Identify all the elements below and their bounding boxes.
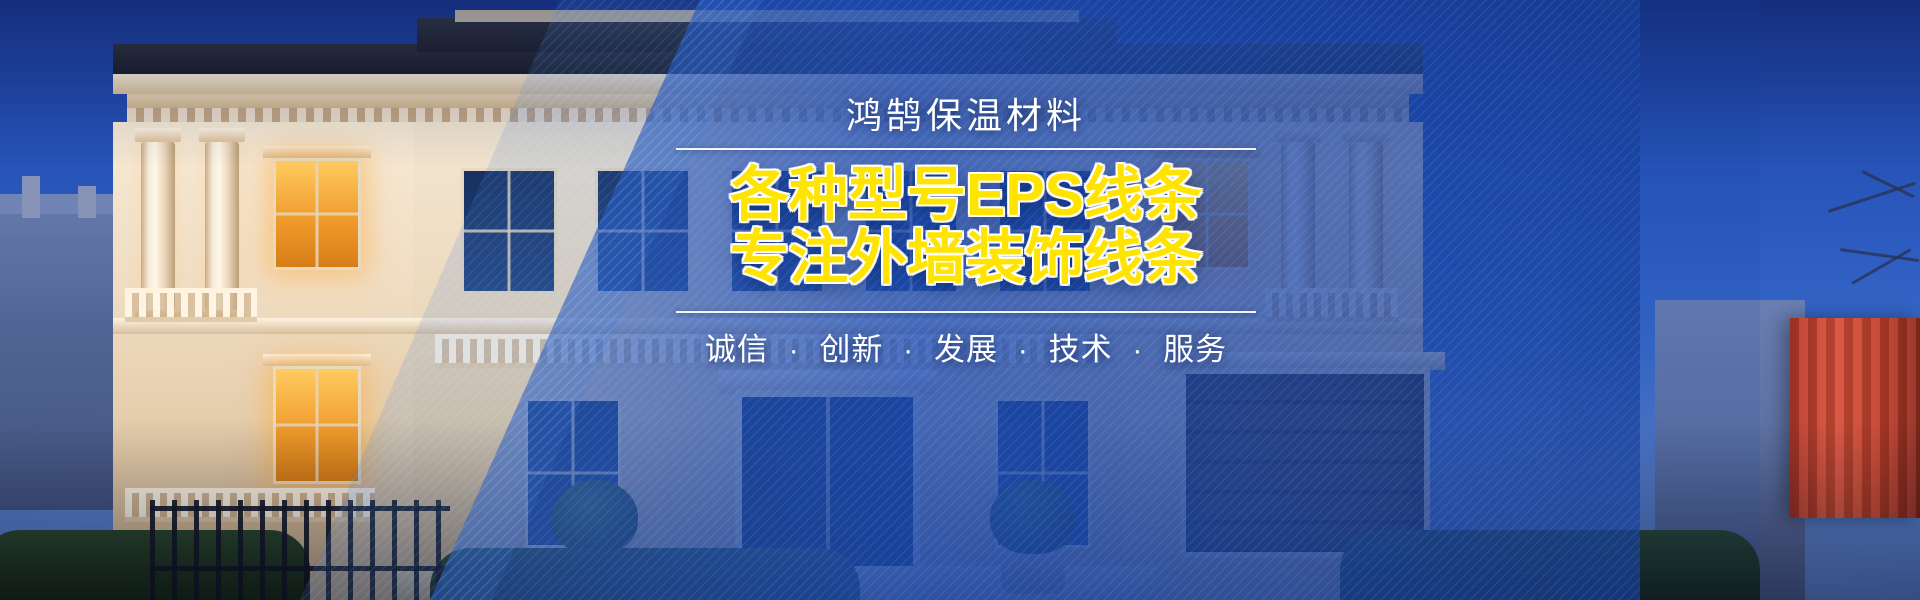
divider-bottom [676,311,1256,313]
banner-content: 鸿鹄保温材料 各种型号EPS线条 专注外墙装饰线条 诚信 · 创新 · 发展 ·… [676,96,1256,368]
headline-block: 各种型号EPS线条 专注外墙装饰线条 [676,164,1256,291]
divider-top [676,148,1256,150]
tagline-item: 创新 [819,332,883,367]
tagline-separator: · [1122,331,1153,368]
tagline-item: 服务 [1163,332,1227,367]
tagline: 诚信 · 创新 · 发展 · 技术 · 服务 [676,331,1256,368]
brand-name: 鸿鹄保温材料 [676,96,1256,136]
headline-line-2: 专注外墙装饰线条 [676,227,1256,291]
headline-line-1: 各种型号EPS线条 [676,164,1256,228]
tagline-separator: · [778,331,809,368]
tagline-item: 发展 [934,332,998,367]
banner-stage: 鸿鹄保温材料 各种型号EPS线条 专注外墙装饰线条 诚信 · 创新 · 发展 ·… [0,0,1920,600]
tagline-separator: · [893,331,924,368]
tagline-item: 技术 [1049,332,1113,367]
tagline-item: 诚信 [705,332,769,367]
tagline-separator: · [1008,331,1039,368]
